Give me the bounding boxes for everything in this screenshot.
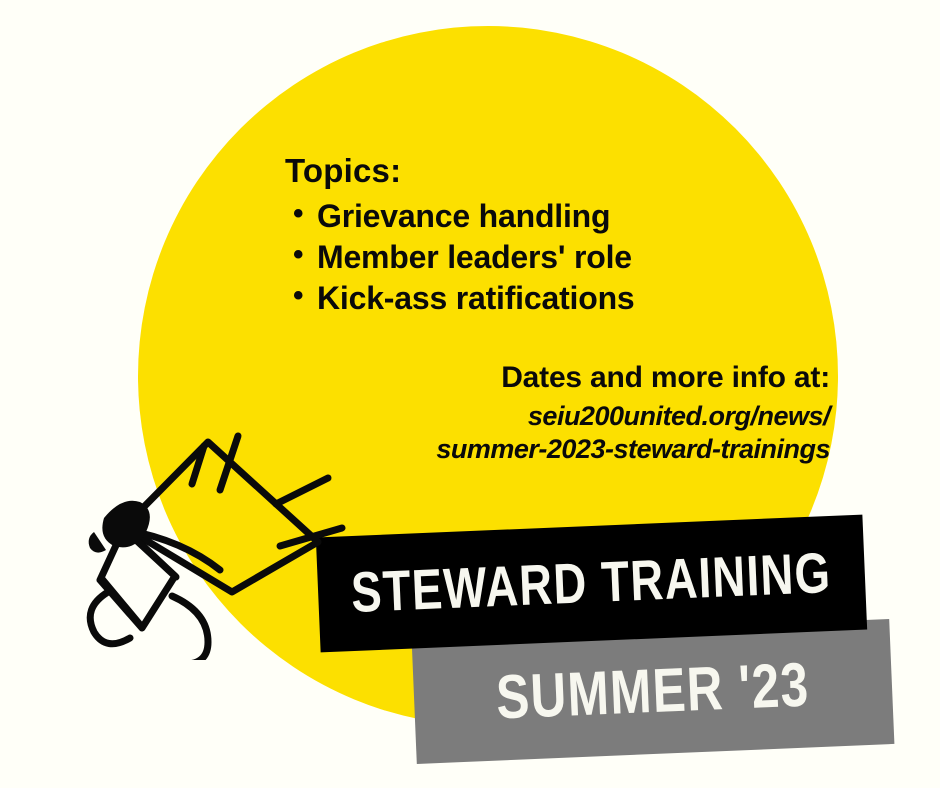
list-item: • Member leaders' role [317,237,825,278]
info-heading: Dates and more info at: [300,360,830,396]
list-item: • Kick-ass ratifications [317,278,825,319]
banner-summer-label: SUMMER '23 [495,654,811,729]
bullet-icon: • [293,277,303,315]
poster-canvas: Topics: • Grievance handling • Member le… [0,0,940,788]
megaphone-icon [80,380,360,660]
topics-heading: Topics: [285,152,825,190]
banner-steward-training-label: STEWARD TRAINING [350,545,832,622]
website-url-line-1: seiu200united.org/news/ [300,400,830,433]
topics-block: Topics: • Grievance handling • Member le… [285,152,825,319]
list-item: • Grievance handling [317,196,825,237]
list-item-label: Member leaders' role [317,239,632,275]
bullet-icon: • [293,195,303,233]
list-item-label: Kick-ass ratifications [317,280,635,316]
bullet-icon: • [293,236,303,274]
banner-steward-training: STEWARD TRAINING [316,515,867,653]
list-item-label: Grievance handling [317,198,610,234]
topics-list: • Grievance handling • Member leaders' r… [285,196,825,319]
website-url-line-2: summer-2023-steward-trainings [300,433,830,466]
info-block: Dates and more info at: seiu200united.or… [300,360,830,466]
